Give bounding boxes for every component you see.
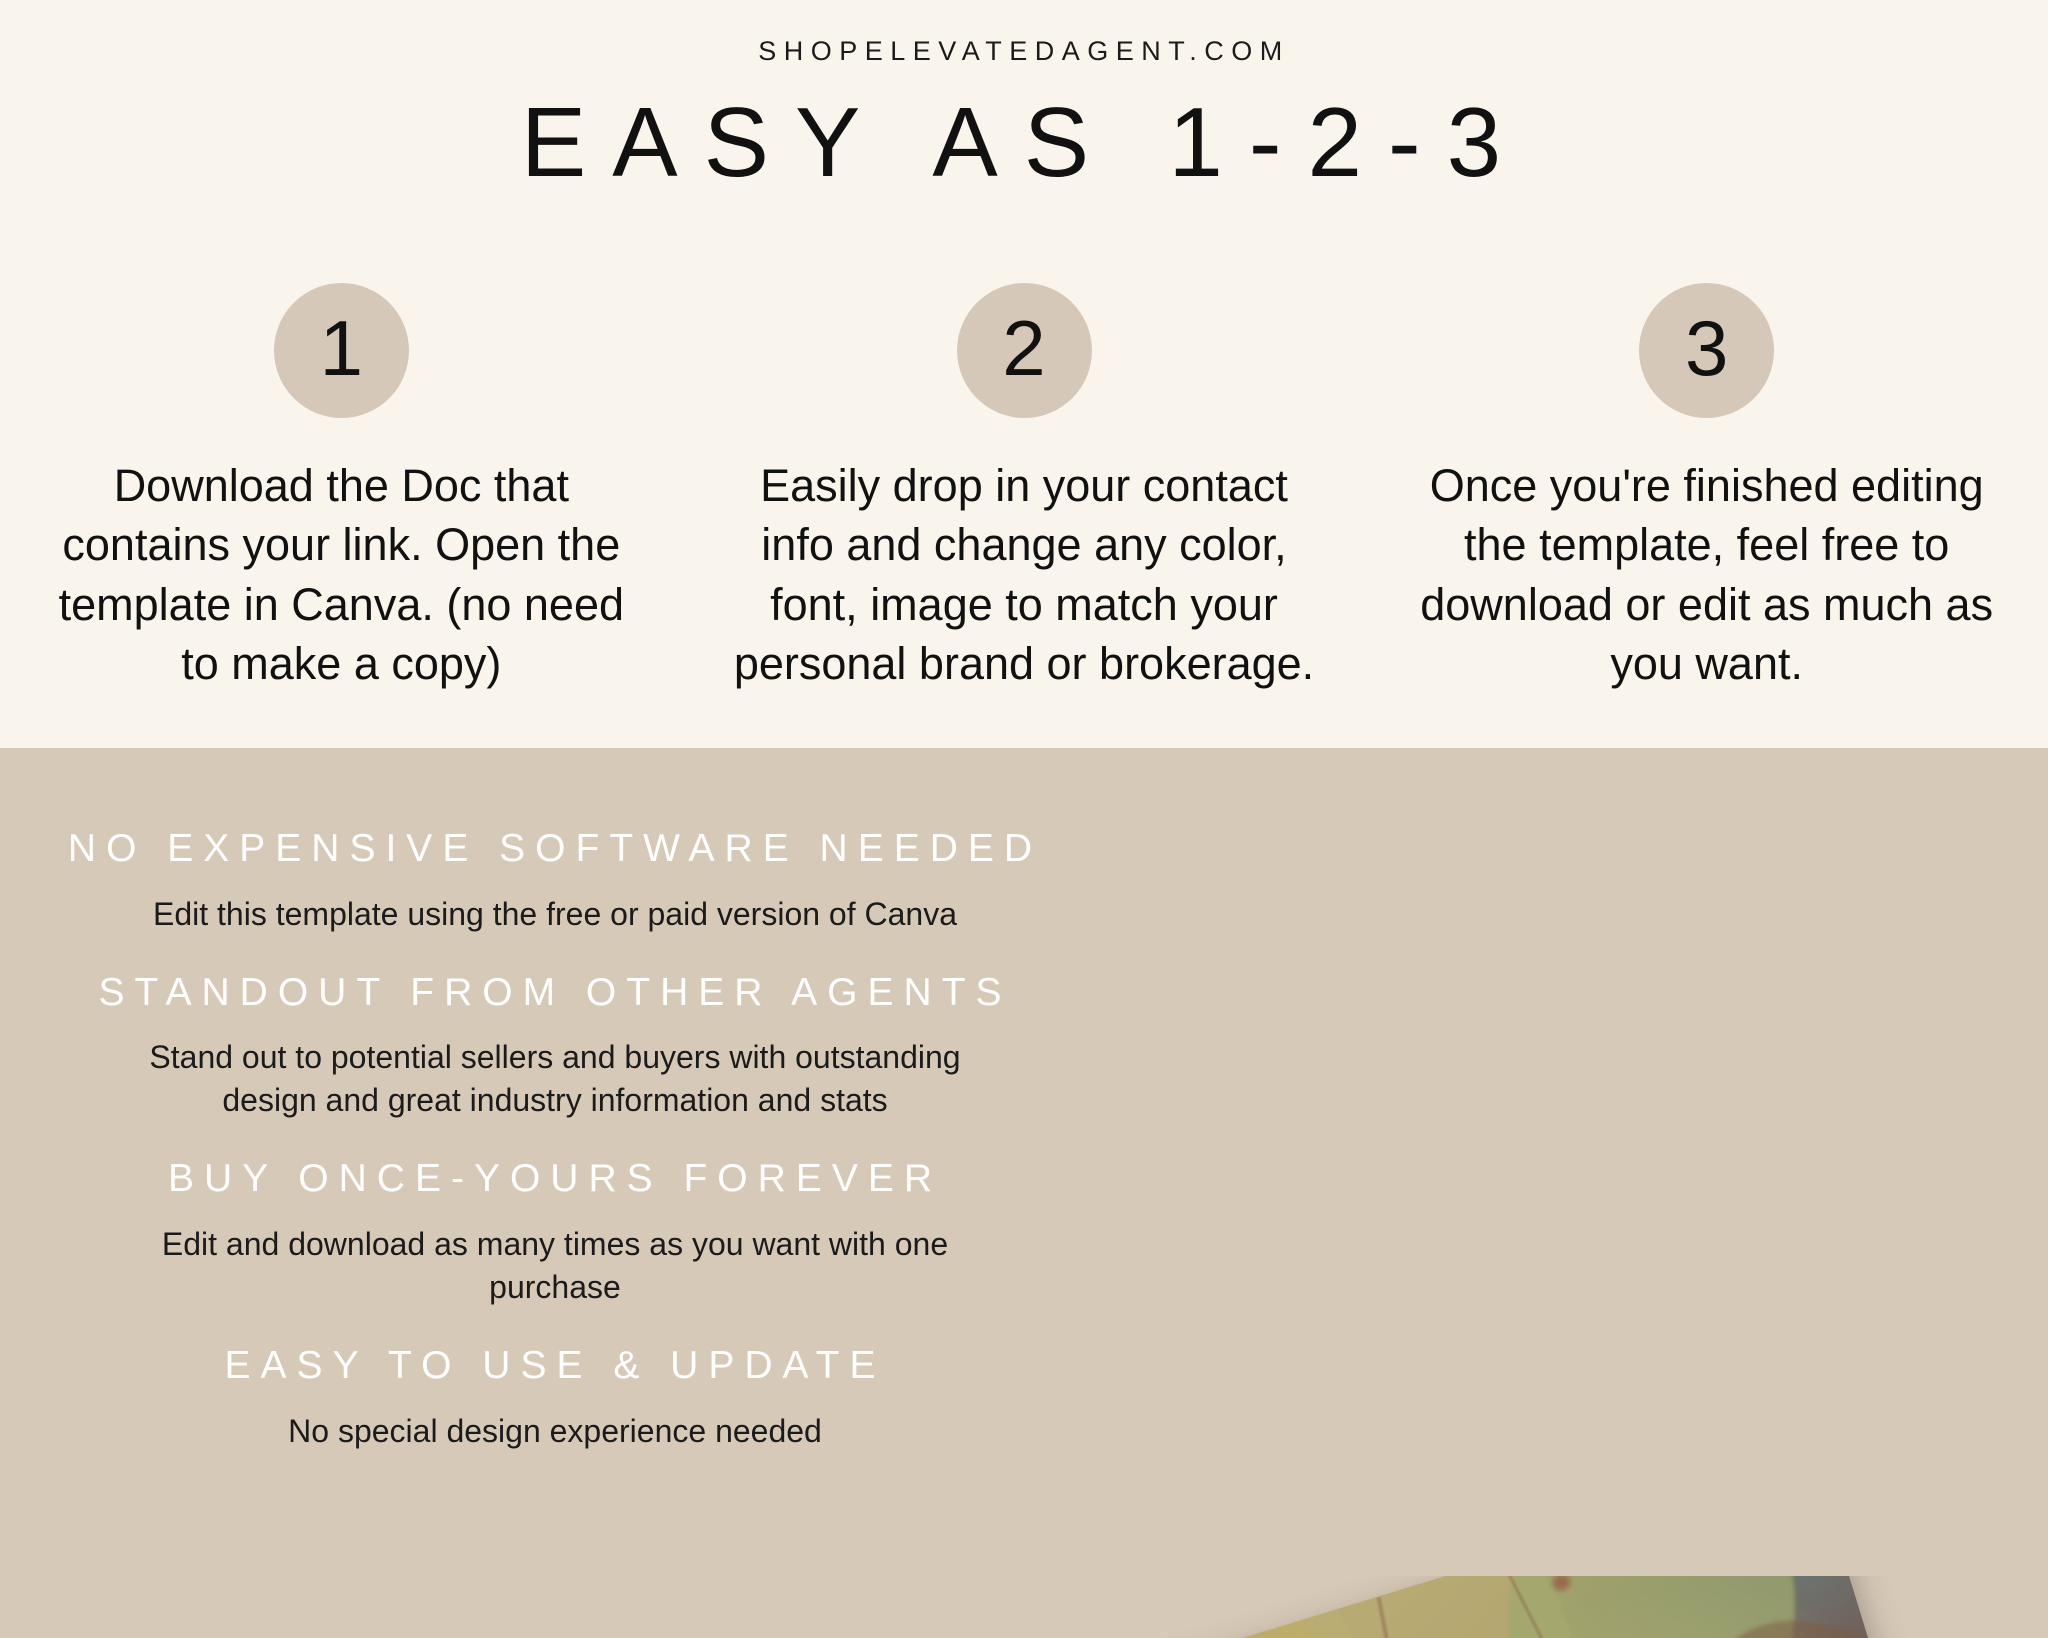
step-1: 1 Download the Doc that contains your li… [0, 283, 683, 694]
feature-heading-4: EASY TO USE & UPDATE [0, 1343, 1110, 1390]
postcard-photo: FALL IS HERE IS YOUR HOME READY? 10 HOME… [1040, 1576, 2048, 1638]
infographic-page: SHOPELEVATEDAGENT.COM EASY AS 1-2-3 1 Do… [0, 0, 2048, 1638]
step-description-2: Easily drop in your contact info and cha… [724, 456, 1324, 694]
step-number-badge-1: 1 [274, 283, 409, 418]
feature-item-1: NO EXPENSIVE SOFTWARE NEEDED Edit this t… [0, 826, 1110, 936]
feature-heading-1: NO EXPENSIVE SOFTWARE NEEDED [0, 826, 1110, 873]
feature-heading-3: BUY ONCE-YOURS FOREVER [0, 1156, 1110, 1203]
step-description-1: Download the Doc that contains your link… [41, 456, 641, 694]
feature-item-3: BUY ONCE-YOURS FOREVER Edit and download… [0, 1156, 1110, 1309]
feature-list: NO EXPENSIVE SOFTWARE NEEDED Edit this t… [0, 748, 1110, 1486]
step-3: 3 Once you're finished editing the templ… [1365, 283, 2048, 694]
feature-item-4: EASY TO USE & UPDATE No special design e… [0, 1343, 1110, 1453]
feature-body-4: No special design experience needed [0, 1410, 1110, 1453]
page-title: EASY AS 1-2-3 [0, 86, 2048, 199]
step-2: 2 Easily drop in your contact info and c… [683, 283, 1366, 694]
feature-body-3: Edit and download as many times as you w… [0, 1223, 1110, 1309]
feature-body-1: Edit this template using the free or pai… [0, 893, 1110, 936]
bottom-section: NO EXPENSIVE SOFTWARE NEEDED Edit this t… [0, 748, 2048, 1638]
site-url: SHOPELEVATEDAGENT.COM [0, 36, 2048, 67]
step-number-badge-3: 3 [1639, 283, 1774, 418]
steps-row: 1 Download the Doc that contains your li… [0, 283, 2048, 694]
top-section: SHOPELEVATEDAGENT.COM EASY AS 1-2-3 1 Do… [0, 0, 2048, 748]
feature-heading-2: STANDOUT FROM OTHER AGENTS [0, 970, 1110, 1017]
step-description-3: Once you're finished editing the templat… [1407, 456, 2007, 694]
feature-item-2: STANDOUT FROM OTHER AGENTS Stand out to … [0, 970, 1110, 1123]
feature-body-2: Stand out to potential sellers and buyer… [0, 1036, 1110, 1122]
step-number-badge-2: 2 [957, 283, 1092, 418]
